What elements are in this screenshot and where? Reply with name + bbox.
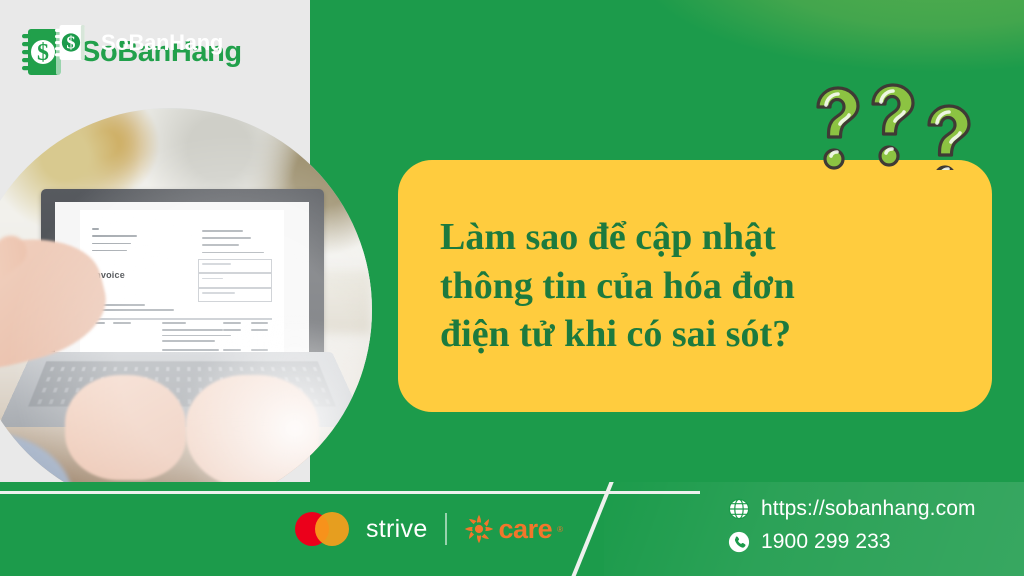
footer-curve-mask: [0, 0, 320, 20]
partner-logos: strive care: [295, 512, 563, 546]
poster-canvas: Invoice: [0, 0, 1024, 576]
care-burst-icon: [464, 514, 494, 544]
headline-line-3: điện tử khi có sai sót?: [440, 310, 950, 359]
care-logo-text: care: [499, 514, 553, 545]
partner-divider: [445, 513, 447, 545]
contact-website[interactable]: https://sobanhang.com: [728, 497, 976, 521]
headline-line-1: Làm sao để cập nhật: [440, 213, 950, 262]
footer-logo-text: SoBanHang: [101, 30, 223, 56]
phone-icon: [728, 531, 750, 553]
hero-photo-circle: Invoice: [0, 108, 372, 512]
website-url-text: https://sobanhang.com: [761, 497, 976, 521]
strive-logo-text: strive: [366, 515, 428, 544]
svg-text:$: $: [66, 33, 75, 53]
footer-divider-line: [0, 491, 700, 494]
headline-card: Làm sao để cập nhật thông tin của hóa đơ…: [398, 160, 992, 412]
headline-line-2: thông tin của hóa đơn: [440, 262, 950, 311]
mastercard-icon: [295, 512, 349, 546]
footer-logo[interactable]: $ SoBanHang: [55, 24, 223, 61]
phone-number-text: 1900 299 233: [761, 530, 891, 554]
care-logo: care ®: [464, 514, 563, 545]
svg-text:$: $: [37, 40, 49, 66]
contact-phone[interactable]: 1900 299 233: [728, 530, 976, 554]
page-title: Làm sao để cập nhật thông tin của hóa đơ…: [398, 213, 992, 359]
care-registered-mark: ®: [557, 525, 563, 534]
ledger-dollar-icon: $: [55, 24, 90, 61]
question-marks-decoration: [800, 78, 1000, 170]
footer-contact-block: https://sobanhang.com 1900 299 233: [728, 497, 976, 554]
globe-icon: [728, 498, 750, 520]
